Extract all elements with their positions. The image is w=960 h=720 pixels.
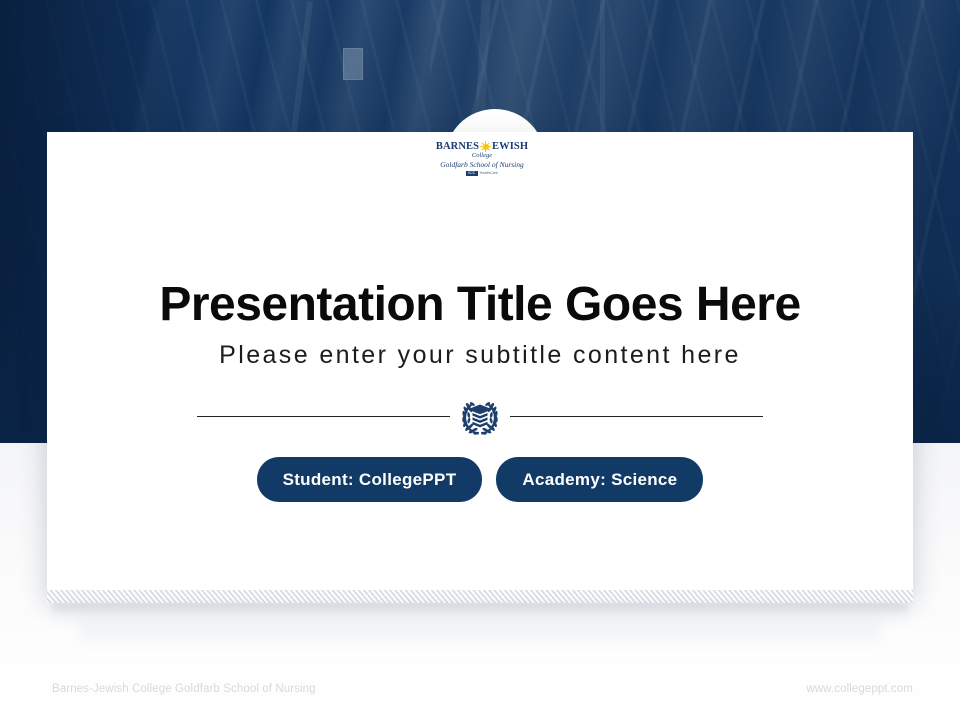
- divider: [47, 396, 913, 436]
- academy-pill-button[interactable]: Academy: Science: [496, 457, 703, 502]
- page-subtitle: Please enter your subtitle content here: [47, 340, 913, 370]
- graduation-cap-laurel-icon: [450, 396, 510, 436]
- logo-healthcare-badge: BJC HealthCare: [430, 171, 534, 176]
- student-pill-button[interactable]: Student: CollegePPT: [257, 457, 483, 502]
- logo-wordmark: BARNES EWISH: [430, 141, 534, 152]
- logo-badge-chip: BJC: [466, 171, 477, 176]
- institution-logo: BARNES EWISH College Goldfarb School of …: [430, 141, 534, 185]
- logo-name-part1: BARNES: [436, 141, 479, 152]
- sun-icon: [480, 141, 491, 152]
- card-bottom-stripe-band: [47, 590, 913, 603]
- logo-badge-text: HealthCare: [480, 171, 498, 176]
- presentation-slide: BARNES EWISH College Goldfarb School of …: [0, 0, 960, 720]
- footer-website: www.collegeppt.com: [806, 683, 913, 695]
- card-bottom-shadow-soft: [80, 622, 880, 648]
- divider-rule-left: [197, 416, 450, 417]
- divider-rule-right: [510, 416, 763, 417]
- meta-pill-group: Student: CollegePPT Academy: Science: [47, 457, 913, 502]
- logo-school-line: Goldfarb School of Nursing: [430, 160, 534, 169]
- page-title: Presentation Title Goes Here: [47, 278, 913, 332]
- logo-college-line: College: [430, 152, 534, 160]
- logo-name-part2: EWISH: [492, 141, 528, 152]
- footer-institution-name: Barnes-Jewish College Goldfarb School of…: [52, 683, 316, 695]
